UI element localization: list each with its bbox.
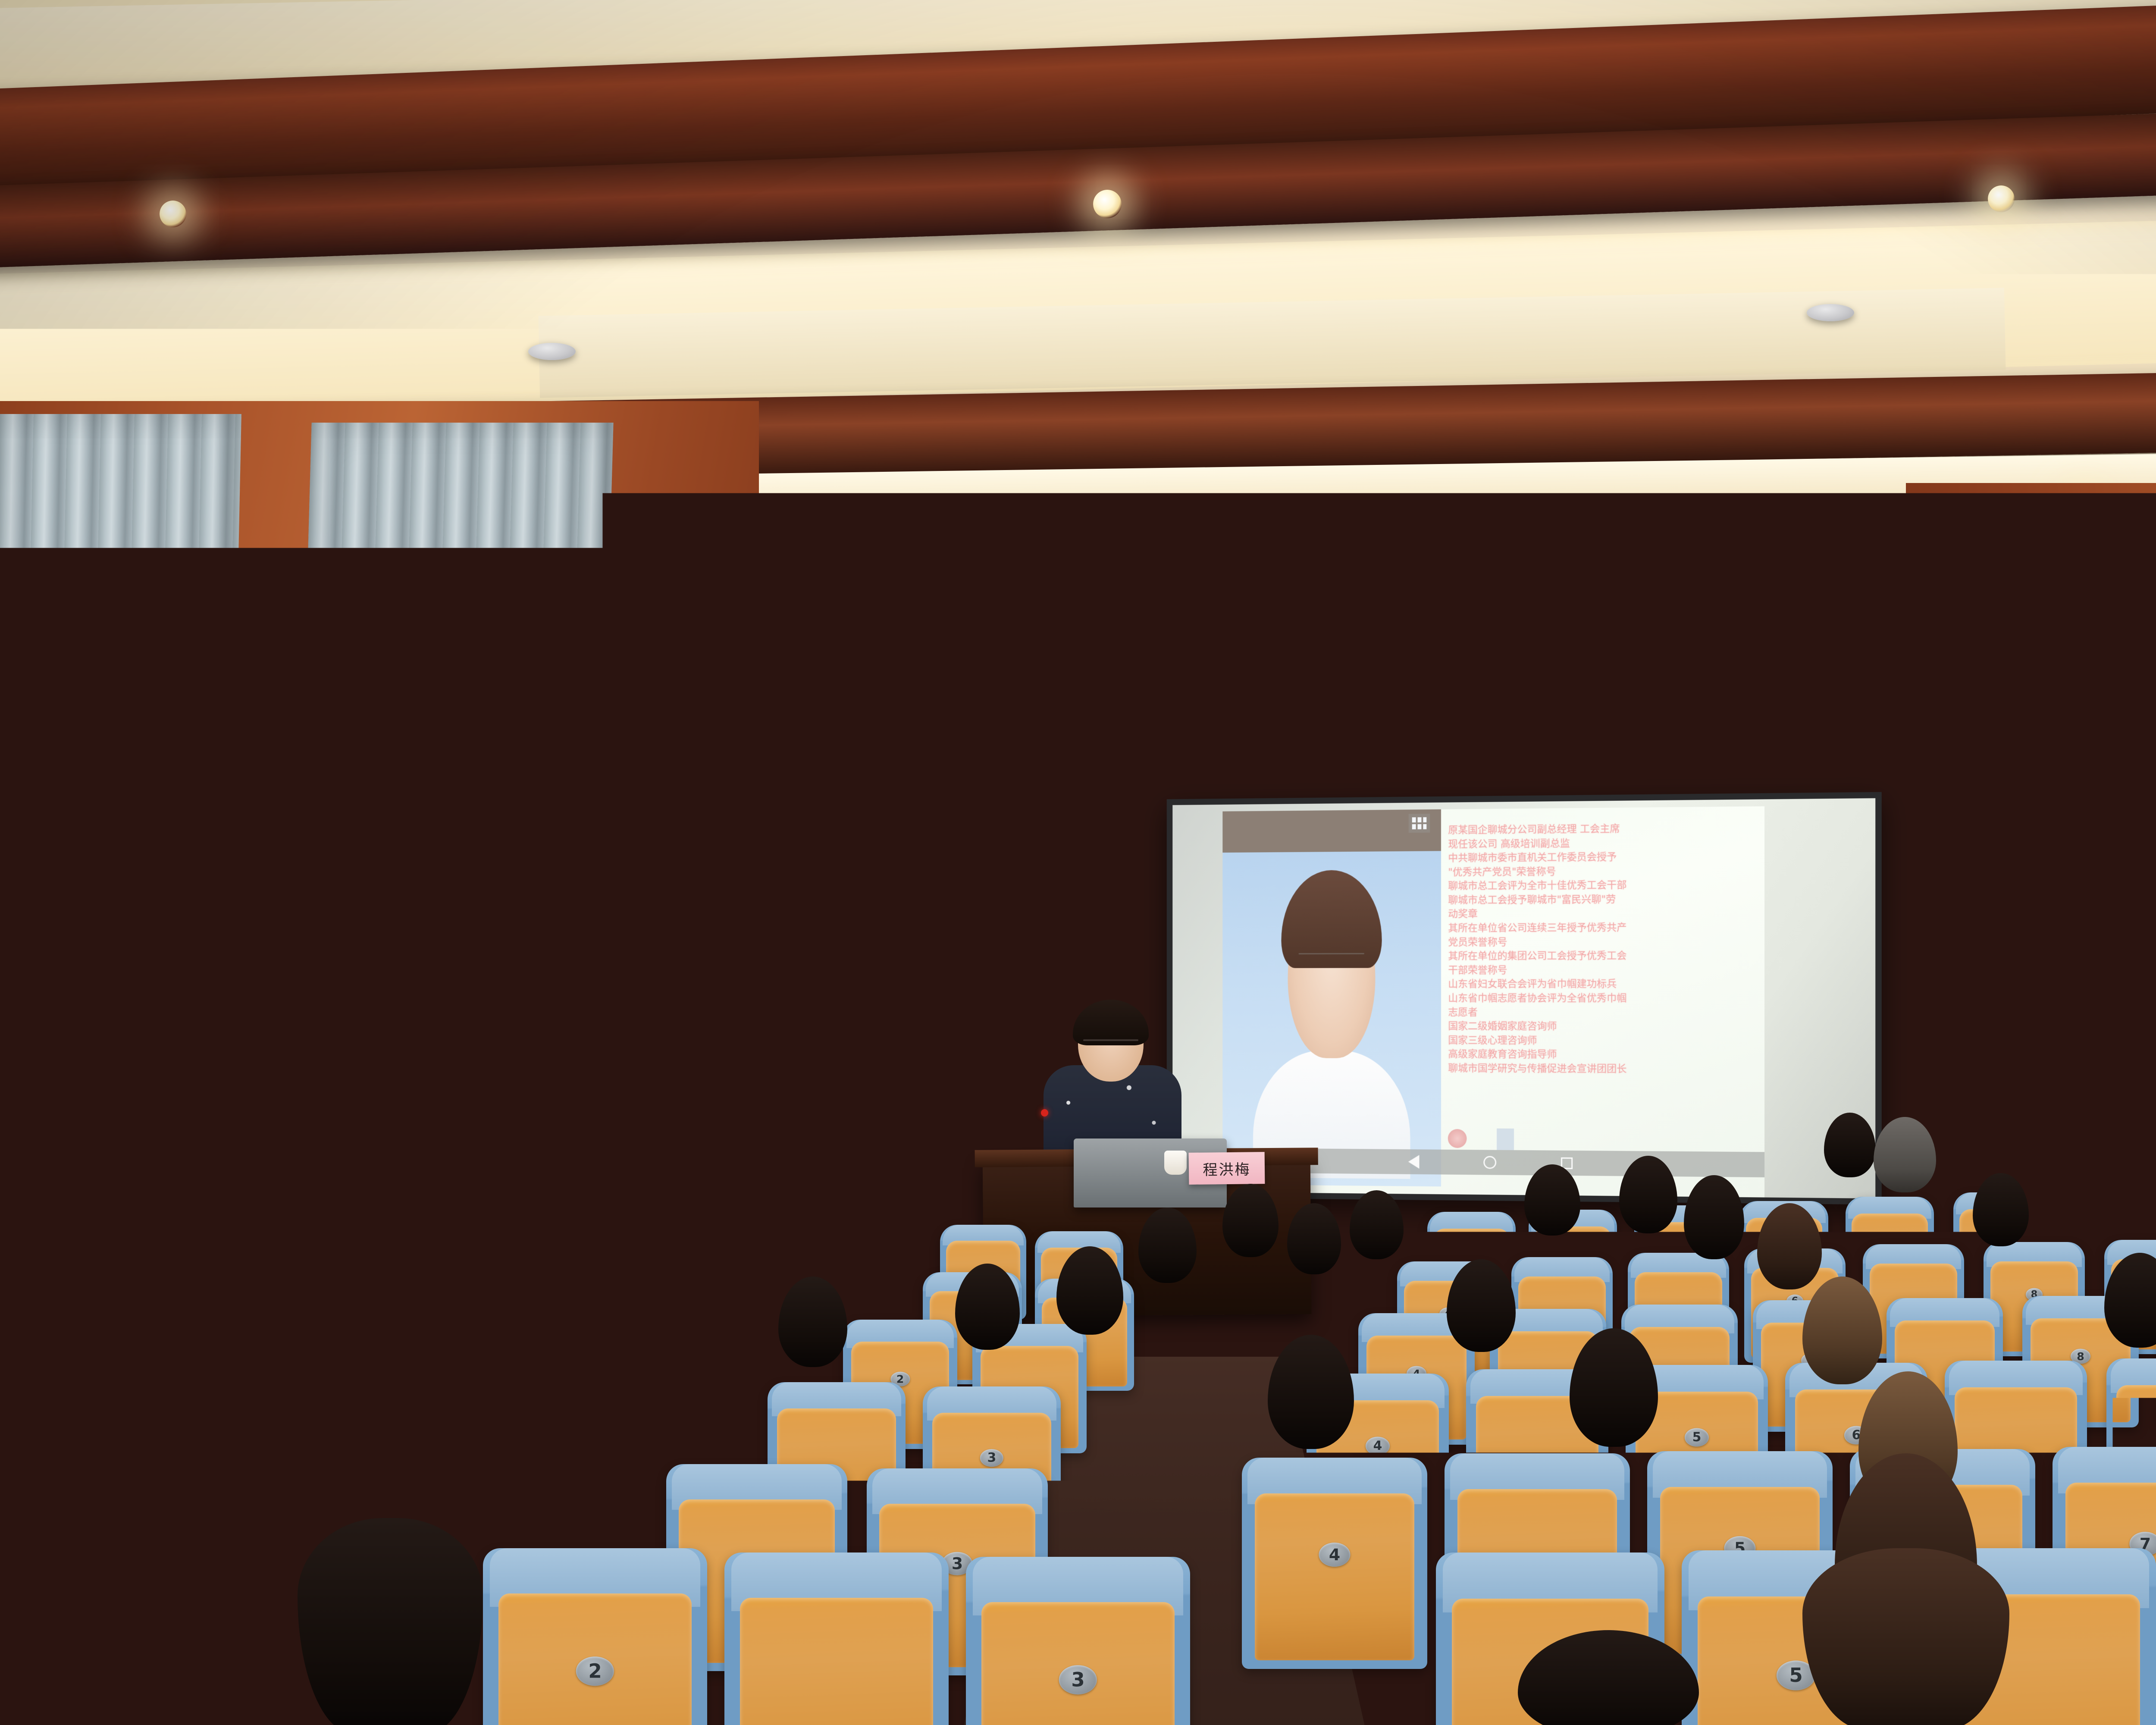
slide-line: 动奖章	[1448, 906, 1762, 921]
wall-speaker-right	[2119, 748, 2156, 832]
seat-number-badge: 4	[1319, 1543, 1350, 1567]
slide-line: 山东省妇女联合会评为省巾帼建功标兵	[1448, 978, 1762, 991]
audience-hair-long	[1035, 1529, 1229, 1725]
slide-line: 山东省巾帼志愿者协会评为全省优秀巾帼	[1448, 992, 1762, 1005]
slide-line: 高级家庭教育咨询指导师	[1448, 1048, 1762, 1062]
plaque-seal: 职业道德	[568, 811, 581, 852]
slide-line: 党员荣誉称号	[1448, 935, 1762, 949]
slide-line: 聊城市总工会评为全市十佳优秀工会干部	[1448, 878, 1762, 893]
seat-number: 2	[576, 1660, 614, 1683]
ceiling-vent-disc	[1716, 520, 1755, 533]
slide-line: 现任该公司 高级培训副总监	[1448, 835, 1762, 851]
plaque-virtue: 爱岗敬业	[574, 893, 581, 917]
left-window-curtain	[0, 414, 241, 1233]
wall-plaque-left-1: 职业道德 和谐文化之窗 道德建设专栏 爱岗敬业 诚实守信 办事公道 服务群众 奉…	[216, 707, 269, 1076]
auditorium-seat[interactable]: 2	[483, 1548, 707, 1725]
slide-line: 国家二级婚姻家庭咨询师	[1448, 1020, 1762, 1034]
seat-number: 4	[1366, 1438, 1390, 1453]
plaque-seal: 职业道德	[233, 767, 254, 832]
audience-hair-long	[298, 1518, 483, 1725]
side-glass-door[interactable]	[791, 931, 828, 1156]
presenter-name: 程洪梅	[1203, 1157, 1251, 1179]
conference-hall-photo: 职业道德 和谐文化之窗 道德建设专栏 爱岗敬业 诚实守信 办事公道 服务群众 奉…	[0, 0, 2156, 1725]
speaker-grille	[757, 797, 828, 869]
seat-number: 5	[1685, 1430, 1709, 1445]
projection-screen-frame: 原某国企聊城分公司副总经理 工会主席 现任该公司 高级培训副总监 中共聊城市委市…	[1167, 792, 1882, 1204]
slide-line: 其所在单位省公司连续三年授予优秀共产	[1448, 921, 1762, 935]
slide-logo-mark-2	[1497, 1129, 1514, 1150]
plaque-virtue: 办事公道	[241, 947, 251, 979]
plaque-corner-motif	[565, 789, 584, 803]
slide-line: 聊城市国学研究与传播促进会宣讲团团长	[1448, 1062, 1762, 1076]
microphone-indicator-light	[1041, 1109, 1048, 1117]
ceiling-speaker-disc	[1807, 304, 1854, 321]
door-mullion	[805, 935, 808, 1153]
seat-number: 2	[670, 1442, 693, 1457]
seat-number-badge: 3	[980, 1449, 1003, 1467]
seat-number-badge: 2	[670, 1440, 693, 1458]
speaker-brand-logo	[783, 865, 810, 869]
apps-grid-icon	[1409, 814, 1430, 833]
slide-line: 志愿者	[1448, 1006, 1762, 1019]
seat-number-badge: 2	[576, 1656, 614, 1686]
plaque-virtue: 诚实守信	[574, 920, 580, 944]
plaque-virtue: 诚实守信	[241, 910, 251, 943]
speaker-portrait-photo	[1222, 809, 1441, 1187]
slide-line: 其所在单位的集团公司工会授予优秀工会	[1448, 949, 1762, 963]
slide-line: 聊城市总工会授予聊城市"富民兴聊"劳	[1448, 892, 1762, 907]
audience-hair-long	[1802, 1548, 2009, 1725]
home-circle-icon[interactable]	[1483, 1156, 1496, 1169]
wall-plaque-left-2: 职业道德 和谐文化之窗 道德建设专栏 爱岗敬业 诚实守信 办事公道 服务群众 奉…	[558, 765, 590, 1041]
seat-number-badge: 4	[1366, 1436, 1390, 1455]
slide-line: 干部荣誉称号	[1448, 963, 1762, 977]
presenter-glasses	[1083, 1039, 1138, 1041]
ceiling-spotlight	[1093, 190, 1122, 218]
plaque-corner-motif	[227, 738, 261, 756]
fire-box-marking	[730, 1287, 744, 1309]
presentation-slide: 原某国企聊城分公司副总经理 工会主席 现任该公司 高级培训副总监 中共聊城市委市…	[1222, 806, 1764, 1198]
auditorium-seat[interactable]	[724, 1552, 949, 1725]
ceiling-spotlight	[160, 201, 186, 227]
back-triangle-icon[interactable]	[1408, 1155, 1419, 1169]
slide-line: 国家三级心理咨询师	[1448, 1034, 1762, 1048]
seat-number-badge: 5	[1685, 1428, 1709, 1446]
ceiling-spotlight	[1988, 185, 2015, 212]
ceiling-speaker-disc	[528, 343, 576, 360]
slide-line: 中共聊城市委市直机关工作委员会授予	[1448, 850, 1762, 865]
speaker-grille	[2124, 756, 2156, 828]
plaque-side-note: 和谐文化之窗 道德建设专栏	[223, 771, 232, 961]
auditorium-seat[interactable]: 4	[1242, 1458, 1427, 1669]
slide-bio-text: 原某国企聊城分公司副总经理 工会主席 现任该公司 高级培训副总监 中共聊城市委市…	[1441, 806, 1764, 1198]
seat-number: 3	[980, 1450, 1003, 1465]
projection-screen: 原某国企聊城分公司副总经理 工会主席 现任该公司 高级培训副总监 中共聊城市委市…	[1172, 798, 1875, 1198]
plaque-wave-motif	[222, 1005, 260, 1063]
plaque-wave-motif	[562, 988, 584, 1032]
seat-number: 4	[1319, 1545, 1350, 1564]
slide-line: 原某国企聊城分公司副总经理 工会主席	[1448, 821, 1762, 837]
audience-head	[778, 1276, 847, 1367]
plaque-virtue: 办事公道	[574, 947, 580, 971]
speaker-brand-logo	[2150, 824, 2156, 828]
plaque-side-note: 和谐文化之窗 道德建设专栏	[563, 816, 568, 953]
microphone-head-icon	[1025, 1080, 1043, 1093]
wall-speaker-left	[752, 789, 832, 873]
slide-line: "优秀共产党员"荣誉称号	[1448, 864, 1762, 879]
presenter-nameplate: 程洪梅	[1189, 1152, 1265, 1185]
projector-screen-top-occlusion	[1452, 648, 1538, 715]
portrait-glasses	[1299, 953, 1364, 979]
audience-head	[1268, 1335, 1354, 1449]
fire-box-lid	[688, 1242, 755, 1254]
tea-cup	[1164, 1151, 1187, 1175]
plaque-virtue: 爱岗敬业	[242, 873, 251, 906]
slide-logo-mark	[1448, 1129, 1467, 1148]
